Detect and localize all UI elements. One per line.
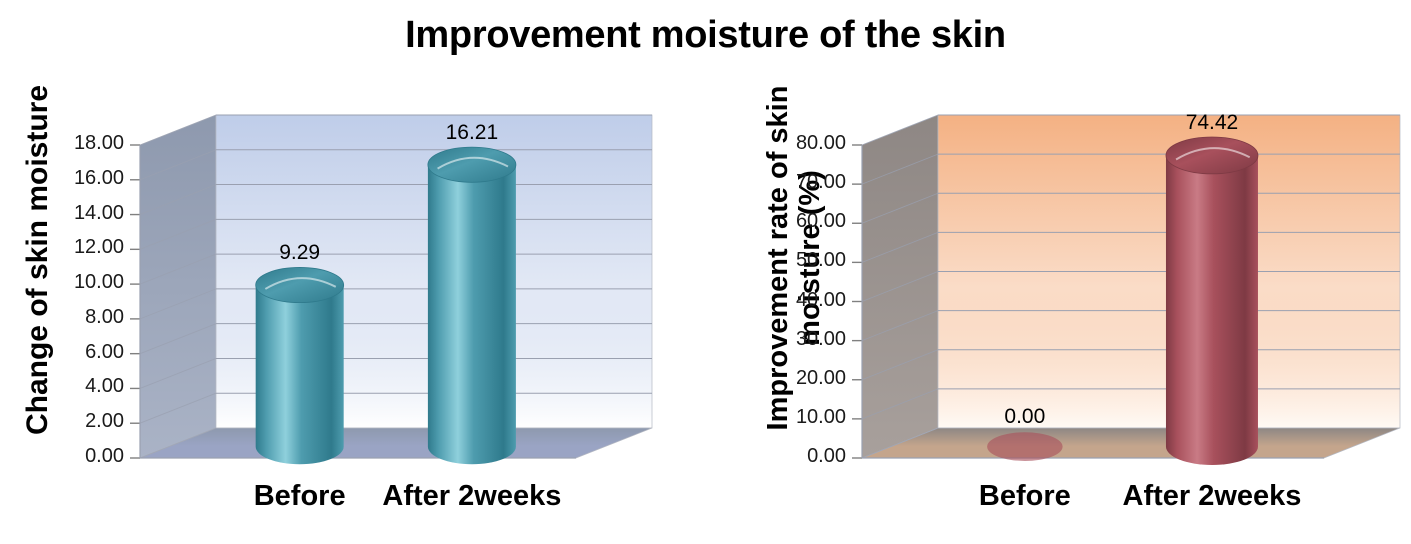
y-axis-tick-label: 2.00 <box>0 410 124 433</box>
chart-right-improvement-rate: Improvement rate of skin moisture (%) 80… <box>700 84 1411 544</box>
data-value-label: 0.00 <box>935 405 1115 429</box>
y-axis-tick-label: 60.00 <box>700 210 846 233</box>
y-axis-tick-label: 70.00 <box>700 171 846 194</box>
data-value-label: 16.21 <box>382 121 562 145</box>
page-title: Improvement moisture of the skin <box>0 14 1411 57</box>
floor <box>140 428 652 458</box>
y-axis-tick-label: 8.00 <box>0 306 124 329</box>
y-axis-tick-label: 18.00 <box>0 132 124 155</box>
data-value-label: 74.42 <box>1122 111 1302 135</box>
y-axis-tick-label: 6.00 <box>0 341 124 364</box>
bar-cylinder <box>428 147 516 464</box>
y-axis-tick-label: 40.00 <box>700 289 846 312</box>
y-axis-tick-label: 4.00 <box>0 375 124 398</box>
y-axis-tick-label: 20.00 <box>700 367 846 390</box>
side-wall <box>140 115 216 458</box>
y-axis-tick-label: 0.00 <box>0 445 124 468</box>
y-axis-tick-label: 80.00 <box>700 132 846 155</box>
bar-cylinder <box>1166 137 1258 465</box>
y-axis-tick-label: 30.00 <box>700 328 846 351</box>
chart-left-change-of-skin-moisture: Change of skin moisture 18.0016.0014.001… <box>0 84 700 544</box>
y-axis-tick-label: 10.00 <box>0 271 124 294</box>
x-axis-category-label: After 2weeks <box>1062 480 1362 513</box>
y-axis-tick-label: 14.00 <box>0 202 124 225</box>
bar-cylinder <box>987 432 1062 461</box>
y-axis-tick-label: 0.00 <box>700 445 846 468</box>
y-axis-tick-label: 10.00 <box>700 406 846 429</box>
floor <box>862 428 1400 458</box>
bar-cylinder <box>256 267 344 464</box>
data-value-label: 9.29 <box>210 241 390 265</box>
x-axis-category-label: After 2weeks <box>322 480 622 513</box>
y-axis-tick-label: 50.00 <box>700 249 846 272</box>
y-axis-tick-label: 16.00 <box>0 167 124 190</box>
y-axis-tick-label: 12.00 <box>0 236 124 259</box>
